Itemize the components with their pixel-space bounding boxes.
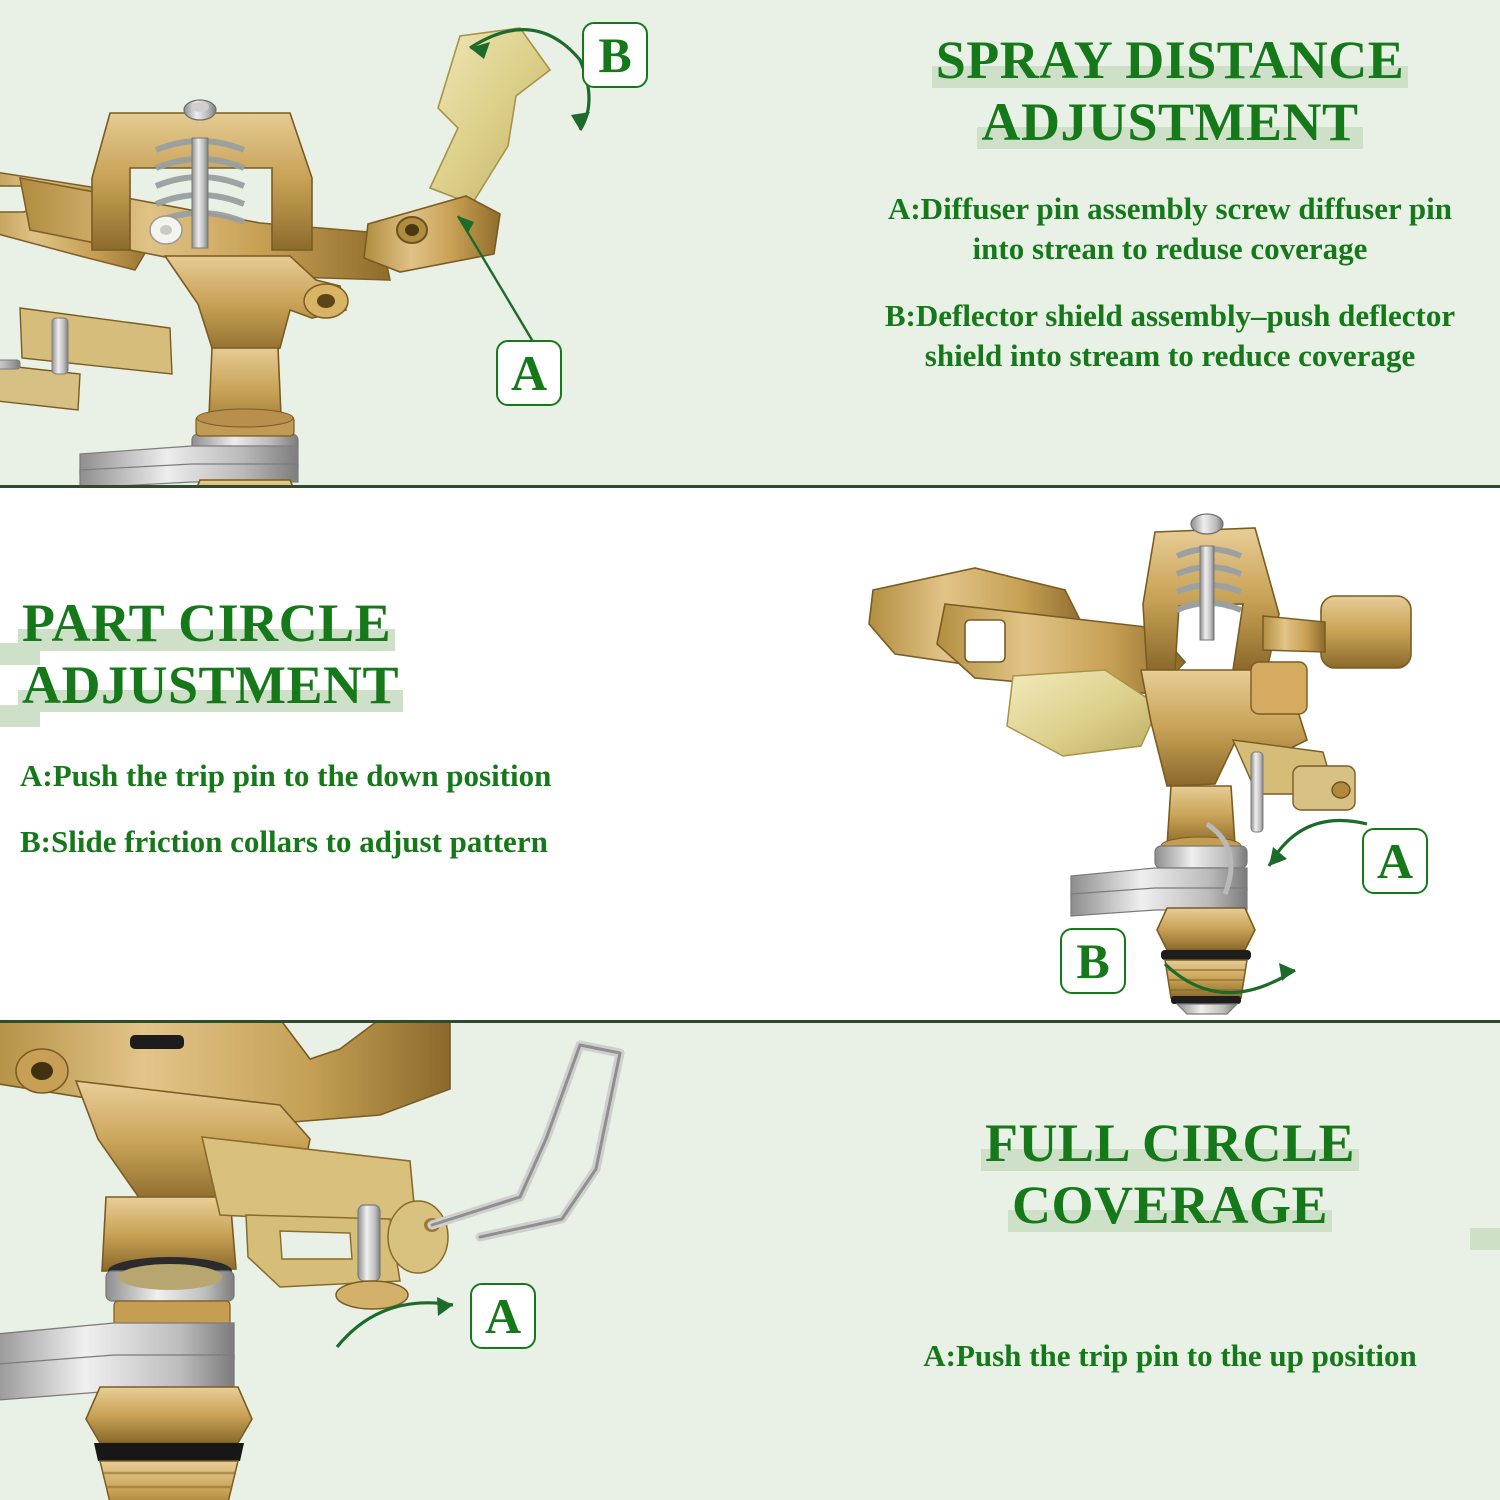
text-block-part-circle: PART CIRCLE ADJUSTMENT A:Push the trip p… bbox=[20, 593, 680, 863]
heading-part-circle: PART CIRCLE ADJUSTMENT bbox=[20, 593, 680, 716]
paragraph-b-spray-distance: B:Deflector shield assembly–push deflect… bbox=[860, 296, 1480, 377]
paragraph-a-full-circle: A:Push the trip pin to the up position bbox=[860, 1336, 1480, 1376]
callout-letter: A bbox=[511, 348, 547, 398]
heading-line-2: ADJUSTMENT bbox=[979, 92, 1360, 154]
infographic-sheet: A B SPRAY DISTANCE ADJUSTMENT A:Diffuser… bbox=[0, 0, 1500, 1500]
text-block-spray-distance: SPRAY DISTANCE ADJUSTMENT A:Diffuser pin… bbox=[860, 30, 1480, 376]
callout-a-full-circle: A bbox=[470, 1283, 536, 1349]
rotation-arrow-b-part-circle bbox=[1155, 926, 1315, 1016]
section-part-circle: PART CIRCLE ADJUSTMENT A:Push the trip p… bbox=[0, 488, 1500, 1020]
callout-letter: A bbox=[1377, 836, 1413, 886]
heading-spray-distance: SPRAY DISTANCE ADJUSTMENT bbox=[860, 30, 1480, 153]
rotation-arrow-a-full-circle bbox=[325, 1283, 475, 1393]
sprinkler-image-full-circle bbox=[0, 1023, 640, 1500]
heading-line-1: FULL CIRCLE bbox=[983, 1113, 1357, 1175]
paragraph-a-part-circle: A:Push the trip pin to the down position bbox=[20, 756, 680, 796]
heading-line-2: ADJUSTMENT bbox=[20, 655, 401, 717]
section-spray-distance: A B SPRAY DISTANCE ADJUSTMENT A:Diffuser… bbox=[0, 0, 1500, 485]
callout-letter: B bbox=[598, 30, 631, 80]
callout-b-part-circle: B bbox=[1060, 928, 1126, 994]
paragraph-b-part-circle: B:Slide friction collars to adjust patte… bbox=[20, 822, 680, 862]
callout-a-spray-distance: A bbox=[496, 340, 562, 406]
leader-line-a bbox=[440, 200, 560, 350]
heading-line-1: SPRAY DISTANCE bbox=[934, 30, 1407, 92]
text-block-full-circle: FULL CIRCLE COVERAGE A:Push the trip pin… bbox=[860, 1113, 1480, 1376]
callout-letter: B bbox=[1076, 936, 1109, 986]
callout-letter: A bbox=[485, 1291, 521, 1341]
heading-line-2: COVERAGE bbox=[1010, 1175, 1330, 1237]
callout-b-spray-distance: B bbox=[582, 22, 648, 88]
callout-a-part-circle: A bbox=[1362, 828, 1428, 894]
paragraph-a-spray-distance: A:Diffuser pin assembly screw diffuser p… bbox=[860, 189, 1480, 270]
heading-full-circle: FULL CIRCLE COVERAGE bbox=[860, 1113, 1480, 1236]
heading-line-1: PART CIRCLE bbox=[20, 593, 393, 655]
section-full-circle: A FULL CIRCLE COVERAGE A:Push the trip p… bbox=[0, 1023, 1500, 1500]
